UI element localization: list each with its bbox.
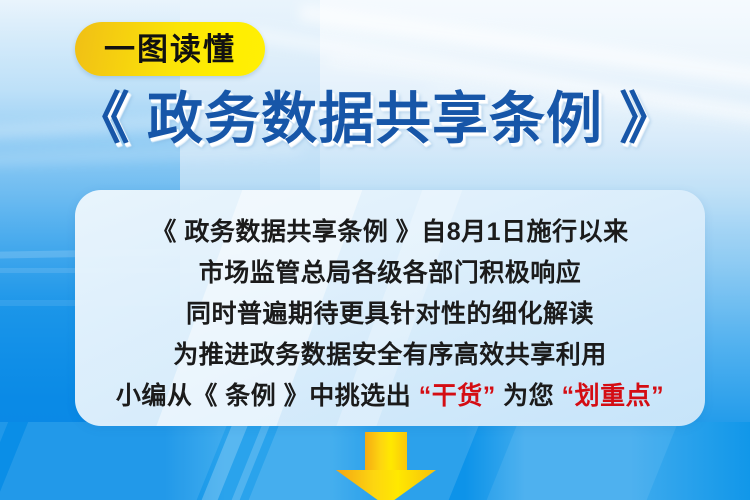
badge-label: 一图读懂: [104, 34, 236, 65]
band-stripe-5: [474, 422, 687, 500]
yitu-dudong-badge: 一图读懂: [75, 22, 265, 76]
poster-canvas: 一图读懂 《 政务数据共享条例 》 《 政务数据共享条例 》自8月1日施行以来 …: [0, 0, 750, 500]
card-line-5-highlight-huazhongdian: “划重点”: [562, 382, 665, 410]
card-text-block: 《 政务数据共享条例 》自8月1日施行以来 市场监管总局各级各部门积极响应 同时…: [75, 190, 705, 417]
intro-text-card: 《 政务数据共享条例 》自8月1日施行以来 市场监管总局各级各部门积极响应 同时…: [75, 190, 705, 426]
arrow-shaft: [365, 432, 407, 472]
card-line-2: 市场监管总局各级各部门积极响应: [75, 253, 705, 294]
card-line-1: 《 政务数据共享条例 》自8月1日施行以来: [75, 212, 705, 253]
card-line-5-part2: 为您: [496, 382, 562, 410]
card-line-5: 小编从《 条例 》中挑选出 “干货” 为您 “划重点”: [75, 376, 705, 417]
band-stripe-1: [0, 422, 236, 500]
card-line-5-part1: 小编从《 条例 》中挑选出: [116, 382, 419, 410]
card-line-4: 为推进政务数据安全有序高效共享利用: [75, 335, 705, 376]
card-line-3: 同时普遍期待更具针对性的细化解读: [75, 294, 705, 335]
card-line-5-highlight-ganhuo: “干货”: [419, 382, 496, 410]
arrow-head: [336, 470, 436, 500]
down-arrow-icon: [336, 432, 436, 500]
page-title: 《 政务数据共享条例 》: [0, 90, 750, 149]
